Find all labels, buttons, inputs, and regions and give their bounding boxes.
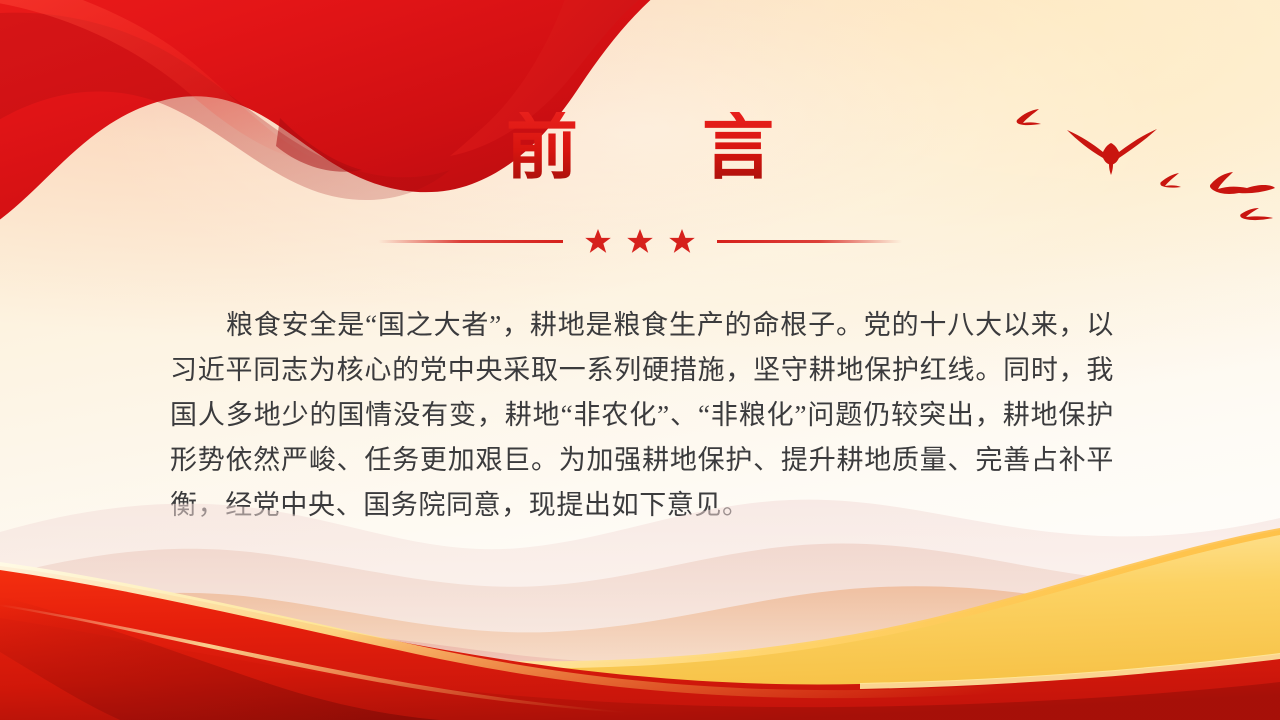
body-paragraph: 粮食安全是“国之大者”，耕地是粮食生产的命根子。党的十八大以来，以习近平同志为核… [170,303,1114,528]
star-icon [585,229,611,254]
divider [370,224,910,258]
divider-stars [563,229,717,254]
divider-rule-right [717,240,902,243]
star-icon [627,229,653,254]
page-title: 前 言 [0,112,1280,184]
star-icon [669,229,695,254]
title-block: 前 言 [0,112,1280,184]
divider-rule-left [378,240,563,243]
slide-canvas: 前 言 粮食安全是“国之大者”，耕地是粮食生产的命根子。党的十八大以来，以习近平… [0,0,1280,720]
